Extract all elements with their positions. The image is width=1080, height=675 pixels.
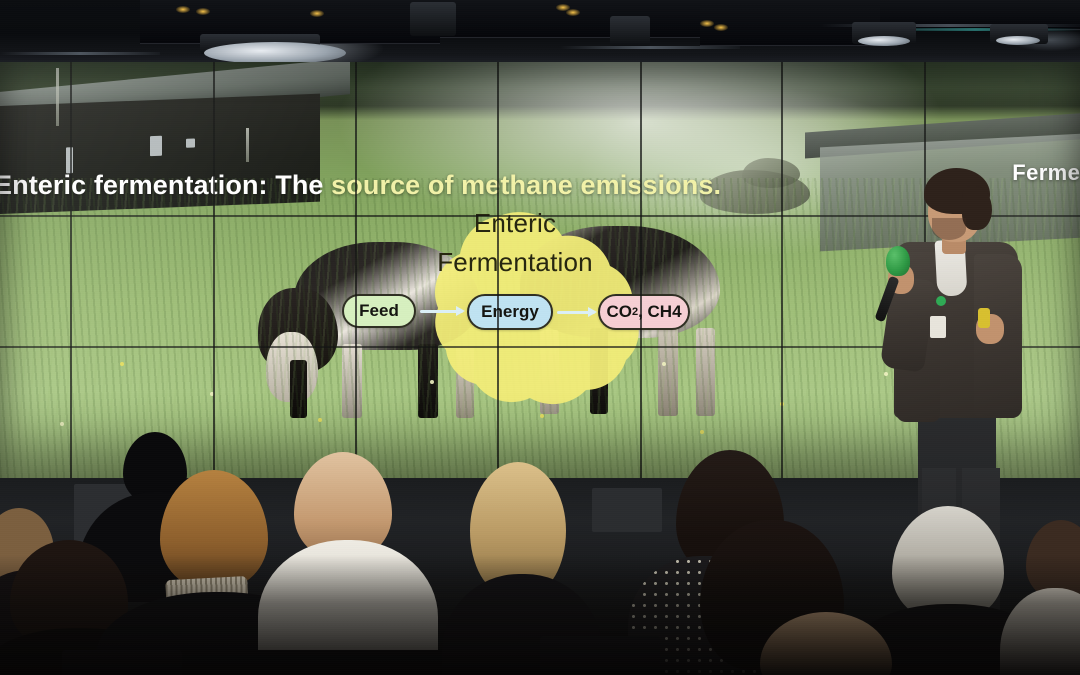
pill-emissions-pre: CO bbox=[606, 302, 632, 322]
slide-title-plain: Enteric fermentation: The bbox=[0, 170, 331, 200]
presenter-beard bbox=[932, 218, 966, 240]
arrow-feed-to-energy bbox=[420, 310, 463, 313]
amber-lamp-icon bbox=[700, 20, 714, 27]
microphone-icon bbox=[886, 246, 910, 276]
spotlight-icon bbox=[204, 42, 346, 64]
amber-lamp-icon bbox=[714, 24, 728, 31]
enteric-fermentation-diagram: Enteric Fermentation Feed Energy CO2, CH… bbox=[330, 190, 700, 430]
screenshot-root: Enteric fermentation: The source of meth… bbox=[0, 0, 1080, 675]
lanyard-badge bbox=[930, 316, 946, 338]
cloud-line-2: Fermentation bbox=[330, 243, 700, 282]
ceiling-lighting-rig bbox=[0, 0, 1080, 62]
cloud-text: Enteric Fermentation bbox=[330, 204, 700, 282]
lanyard-dot bbox=[936, 296, 946, 306]
amber-lamp-icon bbox=[566, 9, 580, 16]
pill-energy: Energy bbox=[467, 294, 553, 330]
arrow-energy-to-gas bbox=[557, 311, 595, 314]
amber-lamp-icon bbox=[176, 6, 190, 13]
spotlight-icon bbox=[996, 36, 1040, 45]
stage-riser-block bbox=[592, 488, 662, 532]
pill-emissions-post: , CH4 bbox=[638, 302, 681, 322]
pill-feed: Feed bbox=[342, 294, 416, 328]
spotlight-icon bbox=[858, 36, 910, 46]
pill-emissions: CO2, CH4 bbox=[598, 294, 690, 330]
presenter-clicker bbox=[978, 308, 990, 328]
amber-lamp-icon bbox=[310, 10, 324, 17]
foreground-shadow bbox=[0, 555, 1080, 675]
cloud-line-1: Enteric bbox=[330, 204, 700, 243]
pill-feed-label: Feed bbox=[359, 301, 399, 321]
pill-energy-label: Energy bbox=[481, 302, 539, 322]
amber-lamp-icon bbox=[196, 8, 210, 15]
